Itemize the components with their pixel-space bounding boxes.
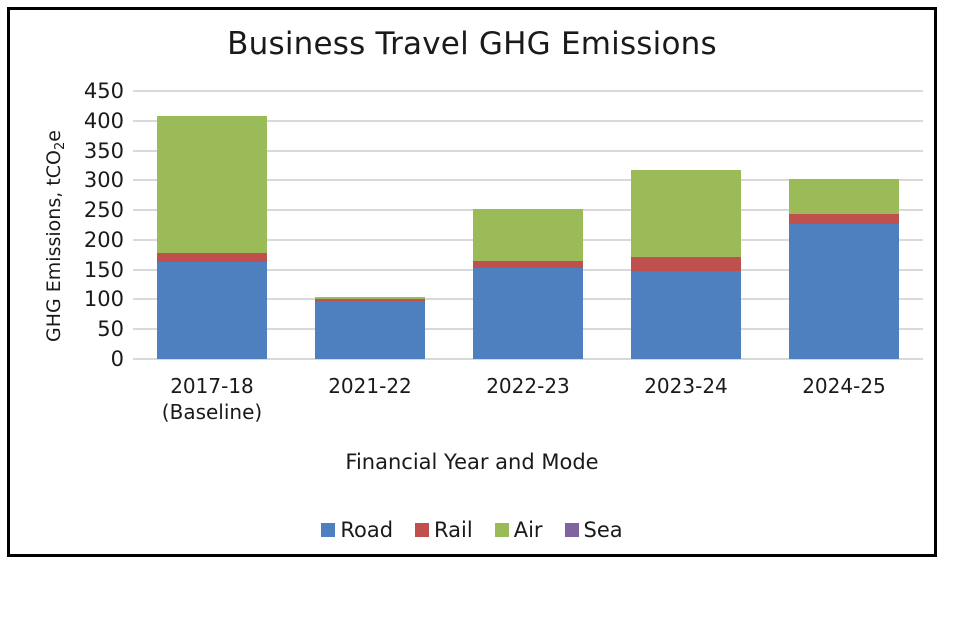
bar-segment-air[interactable] (631, 170, 741, 257)
x-axis-tick-line: 2024-25 (802, 373, 886, 399)
x-axis-tick-line: 2017-18 (162, 373, 262, 399)
y-axis-tick-label: 300 (84, 168, 124, 192)
bar-segment-road[interactable] (157, 262, 267, 359)
bar-segment-air[interactable] (473, 209, 583, 261)
x-axis-tick-line: 2021-22 (328, 373, 412, 399)
x-axis-tick-line: 2023-24 (644, 373, 728, 399)
x-axis-tick-label: 2021-22 (328, 373, 412, 399)
bar-stack[interactable] (631, 170, 741, 359)
y-axis-title-subscript: 2 (53, 142, 68, 150)
legend-swatch-air (495, 523, 509, 537)
plot-area: 450400350300250200150100500 2017-18(Base… (133, 91, 923, 359)
y-axis-tick-label: 0 (111, 347, 124, 371)
gridline (133, 90, 923, 92)
legend-swatch-rail (415, 523, 429, 537)
legend-swatch-sea (565, 523, 579, 537)
y-axis-title-suffix: e (43, 130, 65, 142)
legend-label: Road (340, 518, 393, 542)
y-axis-tick-label: 200 (84, 228, 124, 252)
y-axis-tick-label: 100 (84, 287, 124, 311)
x-axis-tick-line: (Baseline) (162, 399, 262, 425)
chart-title: Business Travel GHG Emissions (10, 26, 934, 62)
y-axis-tick-label: 50 (97, 317, 124, 341)
bar-segment-road[interactable] (473, 268, 583, 359)
legend-label: Sea (584, 518, 623, 542)
y-axis-title-text: GHG Emissions, tCO (43, 150, 65, 342)
legend-item-air[interactable]: Air (495, 518, 543, 542)
bar-stack[interactable] (473, 209, 583, 359)
legend-swatch-road (321, 523, 335, 537)
x-axis-title: Financial Year and Mode (10, 450, 934, 474)
bar-segment-road[interactable] (631, 271, 741, 359)
chart-card: Business Travel GHG Emissions GHG Emissi… (7, 7, 937, 557)
legend-label: Rail (434, 518, 473, 542)
bar-segment-rail[interactable] (157, 253, 267, 262)
legend-item-rail[interactable]: Rail (415, 518, 473, 542)
bar-segment-road[interactable] (315, 301, 425, 359)
y-axis-tick-label: 400 (84, 109, 124, 133)
bar-stack[interactable] (315, 297, 425, 359)
legend-item-road[interactable]: Road (321, 518, 393, 542)
bar-segment-rail[interactable] (631, 257, 741, 271)
bar-stack[interactable] (789, 179, 899, 359)
y-axis-tick-label: 150 (84, 258, 124, 282)
x-axis-tick-line: 2022-23 (486, 373, 570, 399)
legend-label: Air (514, 518, 543, 542)
x-axis-tick-label: 2024-25 (802, 373, 886, 399)
chart-legend: RoadRailAirSea (10, 518, 934, 542)
bar-segment-road[interactable] (789, 224, 899, 359)
x-axis-tick-label: 2023-24 (644, 373, 728, 399)
y-axis-tick-label: 250 (84, 198, 124, 222)
bar-segment-rail[interactable] (473, 261, 583, 268)
y-axis-tick-label: 450 (84, 79, 124, 103)
bar-segment-air[interactable] (157, 116, 267, 253)
bar-segment-air[interactable] (789, 179, 899, 214)
bar-segment-rail[interactable] (789, 214, 899, 224)
y-axis-title: GHG Emissions, tCO2e (43, 96, 65, 376)
y-axis-tick-label: 350 (84, 139, 124, 163)
bar-stack[interactable] (157, 116, 267, 359)
x-axis-tick-label: 2017-18(Baseline) (162, 373, 262, 426)
x-axis-tick-label: 2022-23 (486, 373, 570, 399)
legend-item-sea[interactable]: Sea (565, 518, 623, 542)
